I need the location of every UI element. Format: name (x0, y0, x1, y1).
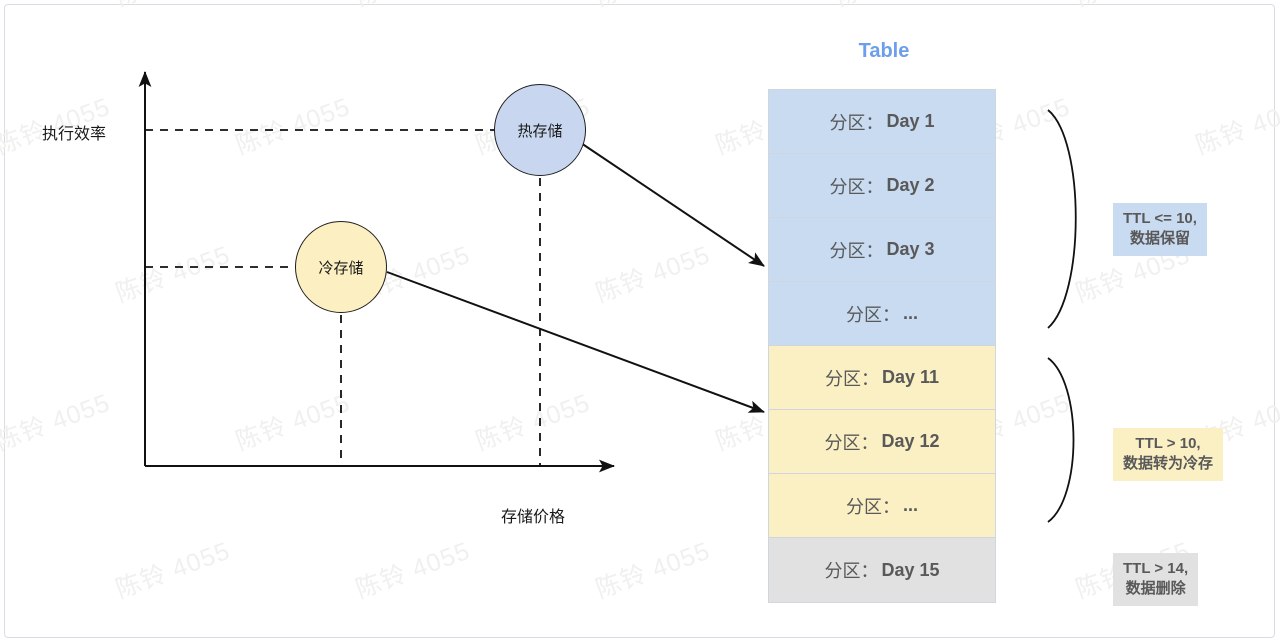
ttl-note-retain-line2: 数据保留 (1123, 229, 1197, 249)
cold-storage-node[interactable]: 冷存储 (295, 221, 387, 313)
ttl-note-to-cold-line2: 数据转为冷存 (1123, 454, 1213, 474)
ttl-note-retain-line1: TTL <= 10, (1123, 209, 1197, 229)
cold-group-brace (1048, 358, 1074, 522)
ttl-note-retain: TTL <= 10, 数据保留 (1113, 203, 1207, 256)
ttl-note-delete-line2: 数据删除 (1123, 579, 1188, 599)
ttl-note-to-cold: TTL > 10, 数据转为冷存 (1113, 428, 1223, 481)
ttl-note-delete: TTL > 14, 数据删除 (1113, 553, 1198, 606)
ttl-note-delete-line1: TTL > 14, (1123, 559, 1188, 579)
hot-storage-label: 热存储 (517, 120, 562, 141)
hot-storage-node[interactable]: 热存储 (494, 84, 586, 176)
group-braces (0, 0, 1280, 643)
ttl-note-to-cold-line1: TTL > 10, (1123, 434, 1213, 454)
cold-storage-label: 冷存储 (318, 257, 363, 278)
diagram-canvas: 陈铃 4055陈铃 4055陈铃 4055陈铃 4055陈铃 4055陈铃 40… (0, 0, 1280, 643)
hot-group-brace (1048, 110, 1076, 328)
